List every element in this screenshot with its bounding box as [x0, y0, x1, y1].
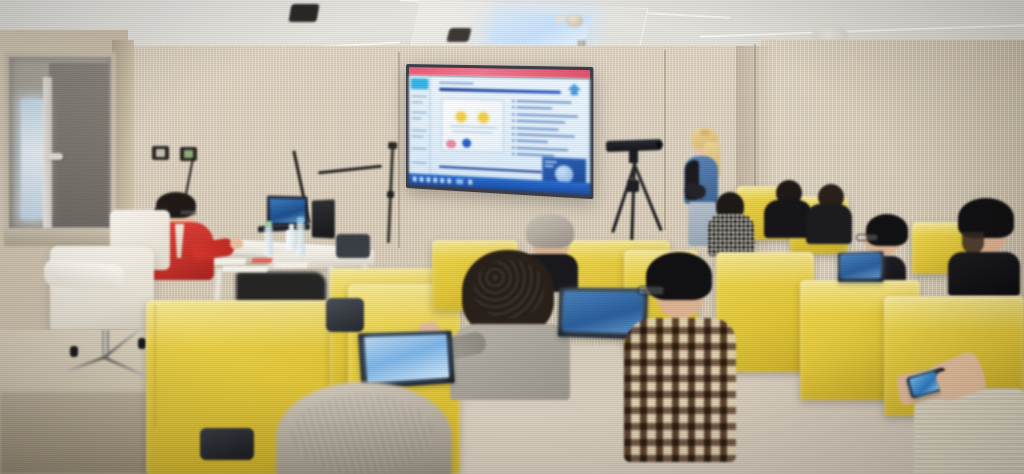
chair-caster	[138, 338, 146, 349]
bullet-item	[512, 126, 583, 132]
slide-bullet-list	[512, 100, 583, 163]
ceiling-mount	[288, 4, 319, 22]
bullet-item	[512, 120, 583, 126]
ceiling-seam	[700, 24, 1024, 37]
slide-thumbnail[interactable]	[412, 95, 427, 97]
slide-thumbnail[interactable]	[412, 129, 427, 132]
presenter-hair-bun	[700, 129, 710, 136]
bullet-item	[512, 100, 583, 105]
attendee-knit-sweater	[914, 388, 1024, 474]
glasses-icon	[856, 234, 878, 241]
slide-thumbnail[interactable]	[412, 111, 427, 113]
organization-logo-icon	[567, 84, 581, 96]
bottle-cap	[265, 221, 272, 227]
taskbar-icon[interactable]	[447, 178, 451, 183]
smoke-detector-icon	[566, 14, 583, 27]
taskbar-icon[interactable]	[433, 178, 437, 183]
microphone-head-icon	[388, 142, 397, 149]
attendee-plaid-shirt	[624, 252, 744, 462]
diagram-figure-icon	[462, 138, 471, 148]
table-monitor[interactable]	[312, 199, 335, 238]
projection-screen[interactable]	[406, 64, 593, 199]
taskbar-icon[interactable]	[420, 177, 424, 182]
diagram-figure-icon	[446, 140, 456, 149]
moderator-hand	[230, 238, 243, 249]
slide-thumbnail[interactable]	[412, 147, 427, 150]
slide-thumbnail[interactable]	[412, 101, 423, 103]
taskbar-icon[interactable]	[468, 179, 472, 184]
water-bottle[interactable]	[296, 222, 305, 256]
bullet-item	[512, 133, 583, 139]
hand-sanitizer[interactable]	[286, 230, 297, 250]
diagram-figure-icon	[456, 112, 466, 123]
bullet-item	[512, 146, 583, 152]
window-handle[interactable]	[47, 153, 63, 160]
taskbar-icon[interactable]	[456, 179, 463, 184]
attendee-hair	[866, 214, 908, 246]
attendee-jacket-houndstooth	[708, 214, 754, 256]
tripod-leg	[632, 161, 663, 231]
video-tile-bar	[545, 161, 557, 164]
diagram-figure-icon	[478, 112, 488, 123]
power-socket[interactable]	[152, 146, 169, 160]
slide-title-rule	[439, 88, 561, 94]
attendee-plaid-top	[624, 318, 736, 462]
paper-sheet[interactable]	[273, 262, 308, 268]
laptop-screen	[840, 254, 880, 279]
paper-sheet[interactable]	[221, 266, 268, 272]
slide-diagram-image	[441, 98, 504, 154]
power-socket[interactable]	[180, 147, 197, 161]
bullet-item	[512, 107, 583, 112]
water-bottle[interactable]	[264, 226, 273, 256]
chair-caster	[70, 346, 78, 357]
video-tile-bar	[545, 165, 554, 168]
glasses-icon	[180, 210, 196, 215]
slide-thumbnail[interactable]	[412, 135, 424, 137]
armchair-armrest	[44, 259, 124, 291]
stand-joint	[387, 191, 394, 198]
chair-spoke	[66, 356, 105, 372]
office-chair-base	[64, 330, 148, 388]
bullet-item	[512, 140, 583, 146]
bag-on-floor[interactable]	[200, 428, 254, 460]
attendee-hair-texture	[292, 394, 432, 474]
taskbar-icon[interactable]	[440, 178, 444, 183]
bottle-cap	[297, 217, 304, 223]
wall-seam	[398, 52, 400, 248]
window	[4, 52, 116, 242]
slide-thumbnail[interactable]	[412, 117, 422, 119]
slide-subtitle-rule	[439, 82, 473, 85]
paper-red[interactable]	[251, 258, 272, 263]
attendee-beard-shape	[962, 232, 984, 254]
camera-tripod	[604, 140, 664, 238]
bag-on-seat[interactable]	[326, 298, 364, 332]
attendee-top	[948, 252, 1020, 296]
attendee-laptop[interactable]	[838, 251, 884, 282]
slide-thumbnail-active[interactable]	[411, 78, 429, 89]
bullet-item	[512, 113, 583, 118]
diagram-line	[450, 126, 497, 129]
ceiling-mount	[446, 28, 471, 42]
laptop-screen	[364, 335, 449, 382]
attendee-phone-user	[896, 330, 1024, 474]
window-daylight	[21, 99, 43, 219]
attendee-dark-curly	[444, 250, 574, 400]
attendee-beard	[948, 198, 1024, 294]
window-pane-dark	[49, 63, 109, 227]
attendee-houndstooth	[706, 192, 754, 256]
attendee-hair	[526, 214, 574, 248]
conference-room-photo: Conference room presentation with audien…	[0, 0, 1024, 474]
attendee-foreground	[276, 382, 452, 474]
taskbar-icon[interactable]	[413, 176, 417, 181]
attendee-laptop[interactable]	[358, 331, 455, 390]
attendee-top	[764, 200, 812, 238]
chair-spoke	[103, 356, 146, 377]
screen-surface	[409, 75, 590, 195]
window-sill	[4, 228, 116, 246]
wall-seam	[664, 50, 666, 230]
glasses-icon	[638, 286, 664, 295]
taskbar-icon[interactable]	[426, 177, 430, 182]
slide-thumbnail-panel[interactable]	[409, 75, 430, 185]
attendee-hair-texture	[474, 260, 544, 318]
bag-on-seat[interactable]	[336, 234, 370, 258]
diagram-line	[452, 131, 492, 134]
slide-thumbnail[interactable]	[412, 161, 427, 164]
